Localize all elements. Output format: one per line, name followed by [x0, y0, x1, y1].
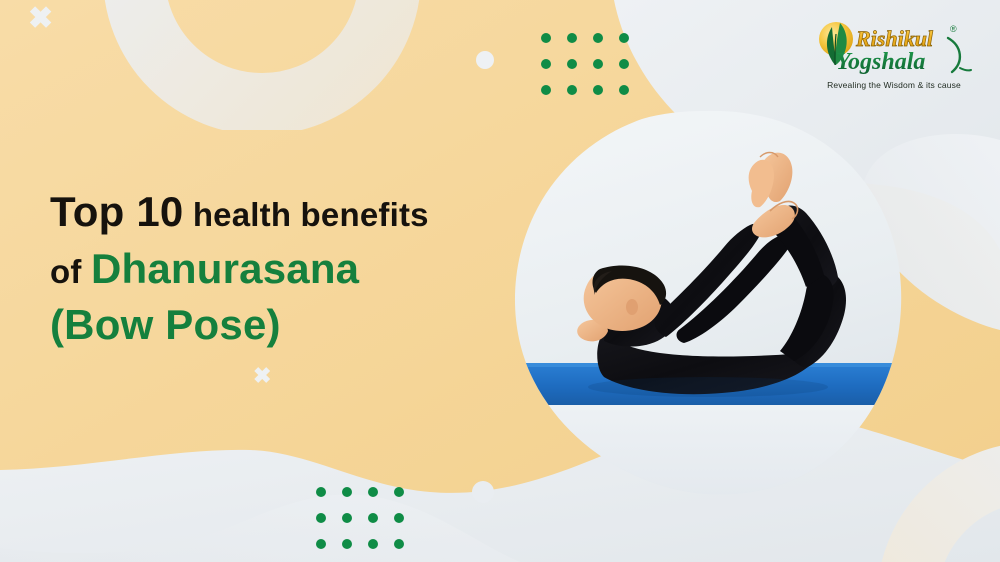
banner-canvas: ✖ ✖: [0, 0, 1000, 562]
circle-decoration-top: [476, 51, 494, 69]
headline-dhanurasana: Dhanurasana: [91, 245, 359, 292]
headline-top10: Top 10: [50, 188, 183, 235]
yoga-pose-photo: [508, 105, 908, 497]
circle-decoration-left: [472, 481, 494, 503]
registered-mark: ®: [950, 24, 957, 34]
brand-logo[interactable]: Rishikul Yogshala ® Revealing the Wisdom…: [810, 18, 978, 104]
logo-name-bottom: Yogshala: [836, 49, 925, 75]
x-mark-mid-left-icon: ✖: [253, 365, 271, 387]
headline-block: Top 10 health benefits of Dhanurasana (B…: [50, 188, 520, 350]
swoosh-tail-icon: [960, 68, 971, 70]
headline-health-benefits: health benefits: [193, 196, 429, 233]
headline-line-2: of Dhanurasana: [50, 245, 520, 294]
headline-of: of: [50, 253, 82, 290]
headline-line-3: (Bow Pose): [50, 301, 520, 350]
logo-mark: Rishikul Yogshala ®: [810, 18, 978, 82]
headline-bow-pose: (Bow Pose): [50, 301, 281, 348]
photo-blob-svg: [508, 105, 908, 497]
logo-name-top: Rishikul: [855, 26, 934, 51]
x-mark-top-left-icon: ✖: [28, 4, 53, 34]
swoosh-icon: [948, 38, 960, 72]
logo-svg: Rishikul Yogshala ®: [810, 18, 978, 82]
headline-line-1: Top 10 health benefits: [50, 188, 520, 237]
